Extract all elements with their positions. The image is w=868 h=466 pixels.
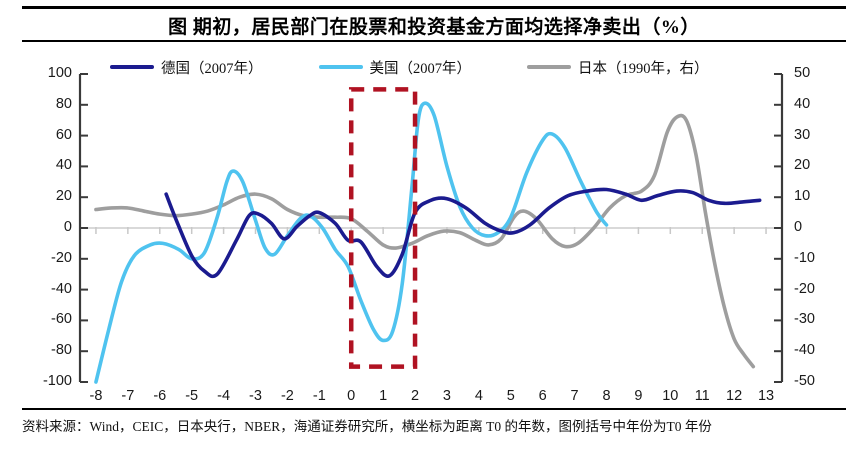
y-axis-left-tick-label: -60 bbox=[16, 311, 72, 327]
x-axis-tick-label: -1 bbox=[301, 388, 337, 404]
x-axis-tick-label: -7 bbox=[110, 388, 146, 404]
x-axis-tick-label: -4 bbox=[206, 388, 242, 404]
x-axis-tick-label: 12 bbox=[716, 388, 752, 404]
x-axis-tick-label: 10 bbox=[652, 388, 688, 404]
series-line-japan bbox=[96, 116, 753, 367]
y-axis-left-tick-label: -20 bbox=[16, 250, 72, 266]
x-axis-tick-label: -3 bbox=[238, 388, 274, 404]
x-axis-tick-label: 3 bbox=[429, 388, 465, 404]
y-axis-right-tick-label: 0 bbox=[794, 219, 850, 235]
y-axis-right-tick-label: 30 bbox=[794, 127, 850, 143]
x-axis-tick-label: -6 bbox=[142, 388, 178, 404]
y-axis-left-tick-label: 20 bbox=[16, 188, 72, 204]
y-axis-left-tick-label: 100 bbox=[16, 65, 72, 81]
y-axis-left-tick-label: 60 bbox=[16, 127, 72, 143]
x-axis-tick-label: 0 bbox=[333, 388, 369, 404]
x-axis-tick-label: 6 bbox=[525, 388, 561, 404]
y-axis-right-tick-label: -50 bbox=[794, 373, 850, 389]
x-axis-tick-label: 11 bbox=[684, 388, 720, 404]
figure-container: 图 期初，居民部门在股票和投资基金方面均选择净卖出（%） 德国（2007年） 美… bbox=[0, 0, 868, 466]
y-axis-left-tick-label: 0 bbox=[16, 219, 72, 235]
footer-rule bbox=[22, 408, 846, 410]
source-note: 资料来源：Wind，CEIC，日本央行，NBER，海通证券研究所，横坐标为距离 … bbox=[22, 416, 850, 437]
y-axis-right-tick-label: -30 bbox=[794, 311, 850, 327]
x-axis-tick-label: -2 bbox=[269, 388, 305, 404]
y-axis-right-tick-label: -10 bbox=[794, 250, 850, 266]
y-axis-right-tick-label: -20 bbox=[794, 281, 850, 297]
y-axis-right-tick-label: 10 bbox=[794, 188, 850, 204]
y-axis-right-tick-label: 50 bbox=[794, 65, 850, 81]
y-axis-left-tick-label: 40 bbox=[16, 157, 72, 173]
x-axis-tick-label: -8 bbox=[78, 388, 114, 404]
y-axis-right-tick-label: 40 bbox=[794, 96, 850, 112]
y-axis-left-tick-label: -80 bbox=[16, 342, 72, 358]
y-axis-left-tick-label: -100 bbox=[16, 373, 72, 389]
x-axis-tick-label: 1 bbox=[365, 388, 401, 404]
x-axis-tick-label: -5 bbox=[174, 388, 210, 404]
x-axis-tick-label: 5 bbox=[493, 388, 529, 404]
x-axis-tick-label: 7 bbox=[557, 388, 593, 404]
x-axis-tick-label: 9 bbox=[620, 388, 656, 404]
x-axis-tick-label: 2 bbox=[397, 388, 433, 404]
y-axis-left-tick-label: 80 bbox=[16, 96, 72, 112]
y-axis-left-tick-label: -40 bbox=[16, 281, 72, 297]
x-axis-tick-label: 4 bbox=[461, 388, 497, 404]
y-axis-right-tick-label: -40 bbox=[794, 342, 850, 358]
x-axis-tick-label: 13 bbox=[748, 388, 784, 404]
y-axis-right-tick-label: 20 bbox=[794, 157, 850, 173]
x-axis-tick-label: 8 bbox=[589, 388, 625, 404]
